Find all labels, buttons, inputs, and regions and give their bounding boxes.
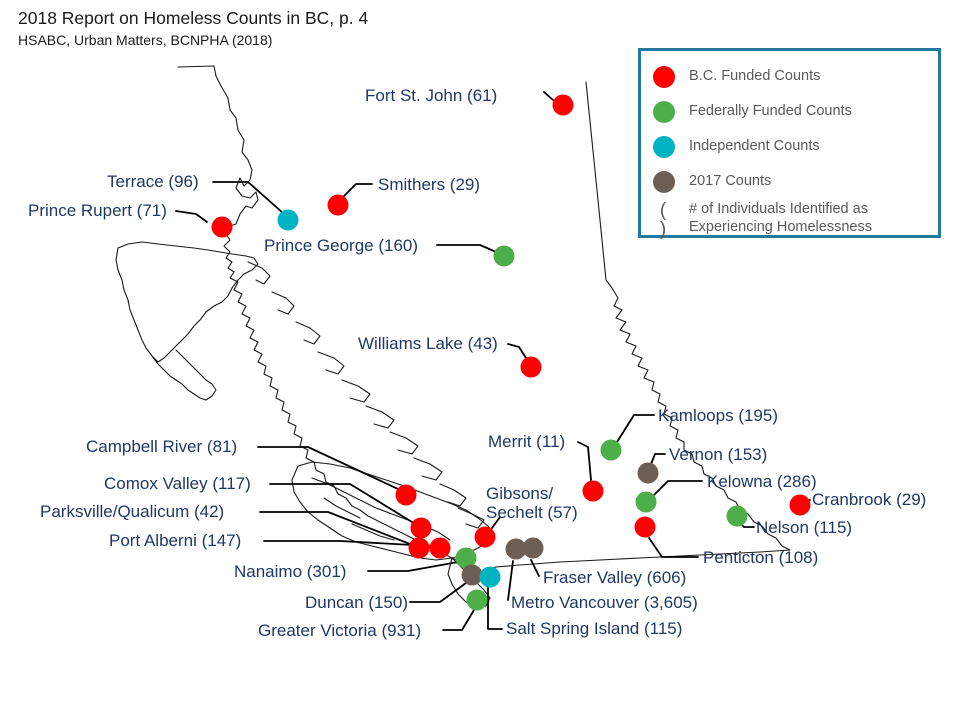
leader-line <box>368 562 458 571</box>
legend-swatch-dot <box>653 171 675 193</box>
map-marker-dot[interactable] <box>635 517 656 538</box>
map-place-label: Fort St. John (61) <box>365 86 497 105</box>
legend-row: Federally Funded Counts <box>641 94 938 129</box>
parenthesis-symbol: ( ) <box>653 201 675 239</box>
leader-line <box>531 560 539 576</box>
leader-line <box>410 583 466 602</box>
map-place-label: Campbell River (81) <box>86 437 237 456</box>
map-place-label: Gibsons/Sechelt (57) <box>486 484 578 522</box>
map-marker-dot[interactable] <box>521 357 542 378</box>
map-marker-dot[interactable] <box>523 538 544 559</box>
legend-row: Independent Counts <box>641 129 938 164</box>
map-marker-dot[interactable] <box>727 506 748 527</box>
map-place-label: Williams Lake (43) <box>358 334 498 353</box>
legend-label: 2017 Counts <box>689 173 771 191</box>
map-marker-dot[interactable] <box>467 590 488 611</box>
map-place-label: Nanaimo (301) <box>234 562 346 581</box>
leader-line <box>213 182 283 213</box>
legend-swatch-dot <box>653 101 675 123</box>
title-block: 2018 Report on Homeless Counts in BC, p.… <box>18 8 368 49</box>
map-place-label: Vernon (153) <box>669 445 767 464</box>
map-marker-dot[interactable] <box>494 246 515 267</box>
map-place-label: Prince Rupert (71) <box>28 201 167 220</box>
map-marker-dot[interactable] <box>790 495 811 516</box>
legend-row: B.C. Funded Counts <box>641 59 938 94</box>
map-marker-dot[interactable] <box>583 481 604 502</box>
legend-swatch-dot <box>653 136 675 158</box>
legend-label: Federally Funded Counts <box>689 103 852 121</box>
map-place-label: Greater Victoria (931) <box>258 621 421 640</box>
leader-line <box>649 538 698 557</box>
map-marker-dot[interactable] <box>601 440 622 461</box>
leader-line <box>437 245 496 252</box>
map-place-label: Nelson (115) <box>756 518 852 537</box>
map-place-label: Penticton (108) <box>703 548 818 567</box>
leader-line <box>651 454 665 464</box>
map-marker-dot[interactable] <box>328 195 349 216</box>
map-marker-dot[interactable] <box>278 210 299 231</box>
leader-line <box>342 184 372 198</box>
page-subtitle: HSABC, Urban Matters, BCNPHA (2018) <box>18 31 368 49</box>
map-place-label: Salt Spring Island (115) <box>506 619 682 638</box>
map-marker-dot[interactable] <box>212 217 233 238</box>
map-place-label: Metro Vancouver (3,605) <box>511 593 698 612</box>
legend-row: ( )# of Individuals Identified as Experi… <box>641 199 938 245</box>
leader-line <box>443 610 474 630</box>
map-place-label: Kelowna (286) <box>707 472 817 491</box>
leader-line <box>508 344 526 358</box>
legend-label: Independent Counts <box>689 138 820 156</box>
leader-line <box>544 92 553 100</box>
leader-line <box>653 481 702 496</box>
map-place-label: Port Alberni (147) <box>109 531 241 550</box>
map-marker-dot[interactable] <box>396 485 417 506</box>
map-legend: B.C. Funded CountsFederally Funded Count… <box>638 48 941 238</box>
map-marker-dot[interactable] <box>638 463 659 484</box>
map-place-label: Merrit (11) <box>488 432 565 451</box>
legend-label: B.C. Funded Counts <box>689 68 820 86</box>
map-marker-dot[interactable] <box>636 492 657 513</box>
map-marker-dot[interactable] <box>430 538 451 559</box>
map-place-label: Comox Valley (117) <box>104 474 251 493</box>
page-title: 2018 Report on Homeless Counts in BC, p.… <box>18 8 368 30</box>
map-place-label: Terrace (96) <box>107 172 199 191</box>
leader-line <box>176 211 207 222</box>
map-marker-dot[interactable] <box>480 567 501 588</box>
map-place-label: Parksville/Qualicum (42) <box>40 502 224 521</box>
map-marker-dot[interactable] <box>411 518 432 539</box>
legend-swatch-dot <box>653 66 675 88</box>
leader-line <box>260 512 410 544</box>
legend-row: 2017 Counts <box>641 164 938 199</box>
map-place-label: Prince George (160) <box>264 236 418 255</box>
map-marker-dot[interactable] <box>553 95 574 116</box>
legend-label: # of Individuals Identified as Experienc… <box>689 201 938 236</box>
map-place-label: Duncan (150) <box>305 593 408 612</box>
map-marker-dot[interactable] <box>475 527 496 548</box>
map-marker-dot[interactable] <box>409 538 430 559</box>
leader-line <box>617 415 654 442</box>
leader-line <box>578 442 591 480</box>
map-place-label: Fraser Valley (606) <box>543 568 686 587</box>
leader-line <box>488 588 502 629</box>
map-place-label: Smithers (29) <box>378 175 480 194</box>
map-place-label: Cranbrook (29) <box>812 490 926 509</box>
homeless-counts-map-page: 2018 Report on Homeless Counts in BC, p.… <box>0 0 960 720</box>
map-place-label: Kamloops (195) <box>658 406 778 425</box>
leader-line <box>258 447 398 489</box>
